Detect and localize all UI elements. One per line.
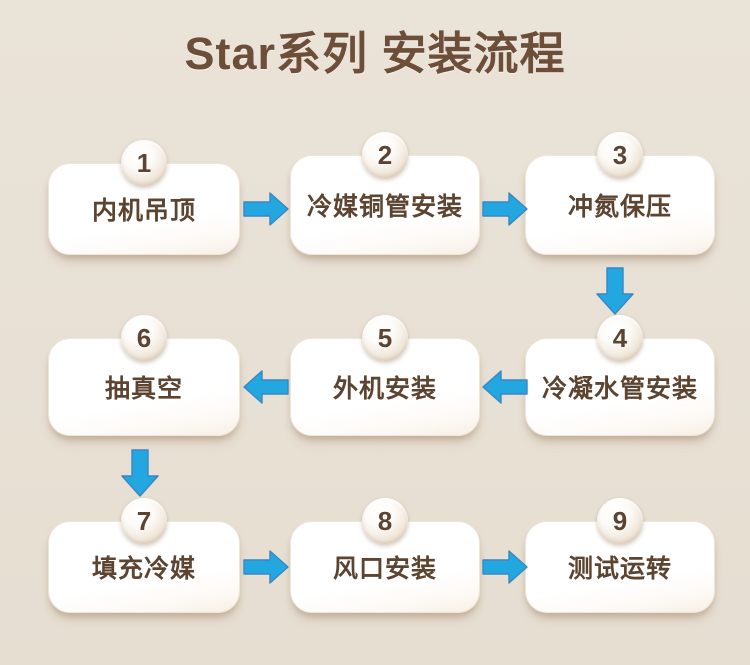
step-number-9: 9 (613, 508, 627, 534)
step-number-7: 7 (137, 508, 151, 534)
step-box-9[interactable]: 测试运转 9 (525, 521, 715, 613)
arrow-right-icon-1-2 (242, 190, 290, 228)
step-badge-9: 9 (597, 498, 643, 544)
step-box-5[interactable]: 外机安装 5 (290, 338, 480, 436)
page-title: Star系列 安装流程 (0, 26, 750, 82)
step-badge-2: 2 (362, 132, 408, 178)
arrow-left-icon-4-5 (481, 368, 529, 406)
arrow-right-icon-2-3 (481, 190, 529, 228)
arrow-right-icon-8-9 (481, 548, 529, 586)
step-number-5: 5 (378, 325, 392, 351)
step-badge-8: 8 (362, 498, 408, 544)
step-number-1: 1 (137, 150, 151, 176)
step-badge-5: 5 (362, 315, 408, 361)
step-box-8[interactable]: 风口安装 8 (290, 521, 480, 613)
arrow-right-icon-7-8 (242, 548, 290, 586)
step-badge-1: 1 (121, 140, 167, 186)
step-number-2: 2 (378, 142, 392, 168)
step-number-8: 8 (378, 508, 392, 534)
arrow-left-icon-5-6 (242, 368, 290, 406)
step-box-3[interactable]: 冲氮保压 3 (525, 155, 715, 255)
step-number-6: 6 (137, 325, 151, 351)
step-number-4: 4 (613, 325, 627, 351)
step-box-6[interactable]: 抽真空 6 (48, 338, 240, 436)
step-badge-4: 4 (597, 315, 643, 361)
step-badge-7: 7 (121, 498, 167, 544)
arrow-down-icon-3-4 (593, 266, 637, 316)
step-badge-3: 3 (597, 132, 643, 178)
step-box-7[interactable]: 填充冷媒 7 (48, 521, 240, 613)
step-box-4[interactable]: 冷凝水管安装 4 (525, 338, 715, 436)
step-box-1[interactable]: 内机吊顶 1 (48, 163, 240, 255)
flowchart-canvas: Star系列 安装流程 内机吊顶 1 冷媒铜管安装 2 冲氮保压 3 (0, 0, 750, 665)
arrow-down-icon-6-7 (118, 448, 162, 498)
step-badge-6: 6 (121, 315, 167, 361)
step-number-3: 3 (613, 142, 627, 168)
step-box-2[interactable]: 冷媒铜管安装 2 (290, 155, 480, 255)
